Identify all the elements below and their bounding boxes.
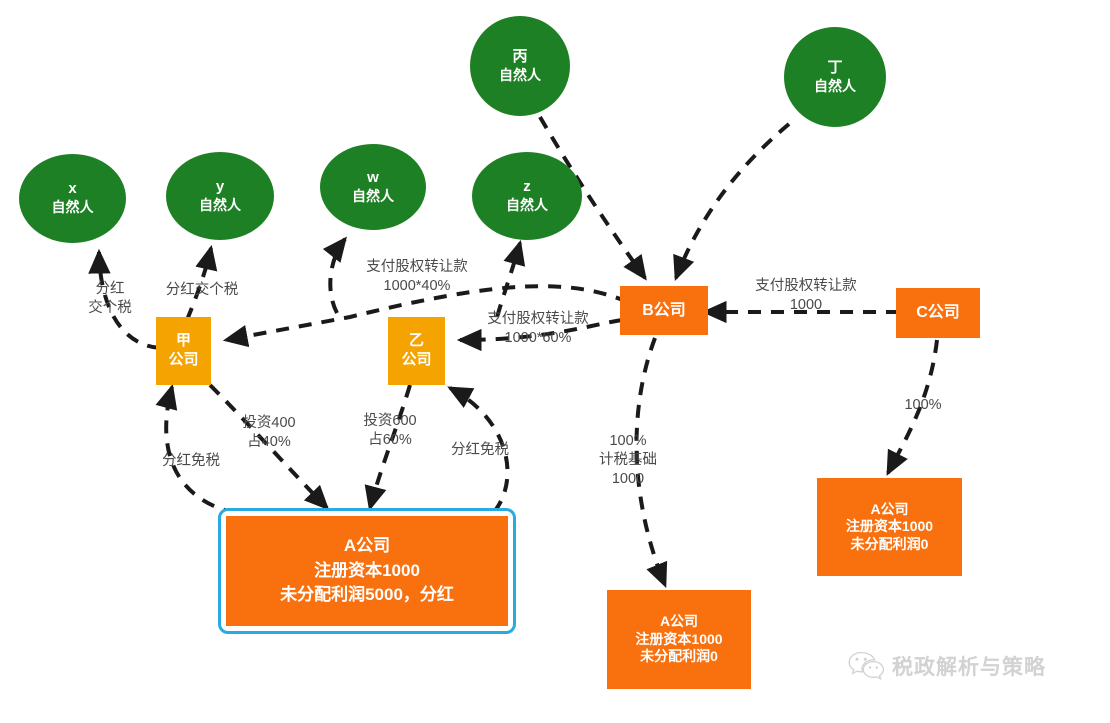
edge-label-jia-to-y: 分红交个税: [152, 281, 252, 300]
edge-label-yi-invest: 投资600 占60%: [344, 412, 436, 450]
person-node-x[interactable]: x 自然人: [19, 154, 126, 243]
person-node-y[interactable]: y 自然人: [166, 152, 274, 240]
person-ding-type: 自然人: [814, 78, 856, 96]
company-jia-line2: 公司: [168, 351, 198, 370]
company-node-yi[interactable]: 乙 公司: [388, 317, 445, 385]
edge-label-jia-dividend-free: 分红免税: [156, 452, 226, 471]
person-node-z[interactable]: z 自然人: [472, 152, 582, 240]
company-jia-line1: 甲: [168, 332, 198, 351]
edge-label-c-to-b: 支付股权转让款 1000: [741, 277, 871, 315]
person-x-name: x: [52, 180, 94, 199]
edge-label-c-to-a-right: 100%: [893, 396, 953, 415]
company-node-c[interactable]: C公司: [896, 288, 980, 338]
company-c-label: C公司: [916, 303, 960, 323]
watermark-text: 税政解析与策略: [892, 651, 1046, 681]
edge-ding-to-b: [676, 124, 789, 278]
person-z-type: 自然人: [506, 197, 548, 215]
person-bing-name: 丙: [499, 48, 541, 67]
person-ding-name: 丁: [814, 59, 856, 78]
person-x-type: 自然人: [52, 199, 94, 217]
edge-label-jia-to-x: 分红 交个税: [70, 280, 150, 318]
person-y-name: y: [199, 178, 241, 197]
company-a-middle-line3: 未分配利润0: [635, 648, 722, 666]
company-node-jia[interactable]: 甲 公司: [156, 317, 211, 385]
company-node-a-right[interactable]: A公司 注册资本1000 未分配利润0: [817, 478, 962, 576]
person-node-ding[interactable]: 丁 自然人: [784, 27, 886, 127]
company-a-middle-line2: 注册资本1000: [635, 631, 722, 649]
edge-label-jia-invest: 投资400 占40%: [223, 414, 315, 452]
edge-label-b-to-jia: 支付股权转让款 1000*40%: [352, 258, 482, 296]
company-node-a-middle[interactable]: A公司 注册资本1000 未分配利润0: [607, 590, 751, 689]
company-a-main-line2: 注册资本1000: [280, 559, 454, 584]
company-a-right-line3: 未分配利润0: [846, 536, 933, 554]
company-b-label: B公司: [642, 301, 686, 321]
company-a-main-line1: A公司: [280, 534, 454, 559]
person-node-bing[interactable]: 丙 自然人: [470, 16, 570, 116]
person-y-type: 自然人: [199, 197, 241, 215]
person-node-w[interactable]: w 自然人: [320, 144, 426, 230]
edge-label-b-to-yi: 支付股权转让款 1000*60%: [473, 310, 603, 348]
edge-label-b-to-a-mid: 100% 计税基础 1000: [582, 432, 674, 489]
watermark: 税政解析与策略: [848, 651, 1046, 681]
company-a-right-line2: 注册资本1000: [846, 518, 933, 536]
company-node-b[interactable]: B公司: [620, 286, 708, 335]
company-a-main-body: A公司 注册资本1000 未分配利润5000，分红: [226, 516, 508, 626]
edge-yi-to-w: [330, 239, 345, 313]
company-node-a-main[interactable]: A公司 注册资本1000 未分配利润5000，分红: [218, 508, 516, 634]
wechat-icon: [848, 651, 884, 681]
company-a-middle-line1: A公司: [635, 613, 722, 631]
person-bing-type: 自然人: [499, 67, 541, 85]
person-w-type: 自然人: [352, 188, 394, 206]
company-yi-line1: 乙: [401, 332, 431, 351]
company-a-right-line1: A公司: [846, 501, 933, 519]
person-z-name: z: [506, 178, 548, 197]
company-yi-line2: 公司: [401, 351, 431, 370]
diagram-canvas: x 自然人 y 自然人 w 自然人 z 自然人 丙 自然人 丁 自然人: [0, 0, 1110, 723]
edge-label-yi-dividend-free: 分红免税: [443, 441, 517, 460]
company-a-main-line3: 未分配利润5000，分红: [280, 583, 454, 608]
edge-yi-to-z: [497, 243, 520, 317]
person-w-name: w: [352, 169, 394, 188]
